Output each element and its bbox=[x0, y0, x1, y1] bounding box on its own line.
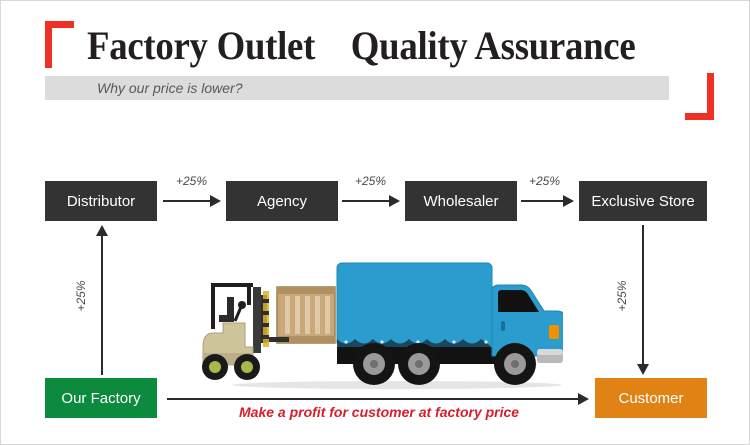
direct-path-caption: Make a profit for customer at factory pr… bbox=[239, 404, 519, 420]
flow-node-label: Distributor bbox=[67, 193, 135, 210]
flow-node-agency: Agency bbox=[226, 181, 338, 221]
forklift-loading-truck-illustration bbox=[197, 249, 563, 394]
flow-node-label: Agency bbox=[257, 193, 307, 210]
flow-node-label: Wholesaler bbox=[423, 193, 498, 210]
forklift-icon bbox=[202, 283, 289, 380]
markup-label-distributor-to-agency: +25% bbox=[176, 174, 207, 188]
markup-label-factory-to-distributor: +25% bbox=[74, 276, 88, 316]
markup-label-exclusive-to-customer: +25% bbox=[615, 276, 629, 316]
subtitle-text: Why our price is lower? bbox=[97, 76, 243, 100]
arrow-head-icon bbox=[389, 195, 400, 207]
flow-node-exclusive-store: Exclusive Store bbox=[579, 181, 707, 221]
arrow-distributor-to-agency bbox=[163, 195, 221, 207]
page-title: Factory Outlet Quality Assurance bbox=[87, 21, 639, 71]
slide-canvas: Factory Outlet Quality Assurance Why our… bbox=[0, 0, 750, 445]
arrow-exclusive-store-to-customer bbox=[637, 225, 649, 375]
flow-node-label: Our Factory bbox=[61, 390, 140, 407]
arrow-shaft bbox=[101, 235, 103, 375]
flow-node-distributor: Distributor bbox=[45, 181, 157, 221]
markup-label-agency-to-wholesaler: +25% bbox=[355, 174, 386, 188]
corner-bracket-top-left-icon bbox=[45, 21, 74, 68]
arrow-factory-to-distributor bbox=[96, 225, 108, 375]
box-truck-icon bbox=[337, 263, 563, 385]
flow-node-wholesaler: Wholesaler bbox=[405, 181, 517, 221]
corner-bracket-bottom-right-icon bbox=[685, 73, 714, 120]
arrow-shaft bbox=[342, 200, 390, 202]
arrow-head-icon bbox=[210, 195, 221, 207]
flow-node-our-factory: Our Factory bbox=[45, 378, 157, 418]
arrow-shaft bbox=[163, 200, 211, 202]
arrow-shaft bbox=[642, 225, 644, 365]
wooden-crate-icon bbox=[277, 287, 335, 343]
markup-label-wholesaler-to-exclusive: +25% bbox=[529, 174, 560, 188]
arrow-head-icon bbox=[578, 393, 589, 405]
flow-node-customer: Customer bbox=[595, 378, 707, 418]
arrow-head-icon bbox=[563, 195, 574, 207]
arrow-shaft bbox=[167, 398, 579, 400]
arrow-shaft bbox=[521, 200, 564, 202]
arrow-head-icon bbox=[637, 364, 649, 375]
flow-node-label: Exclusive Store bbox=[591, 193, 694, 210]
arrow-wholesaler-to-exclusive-store bbox=[521, 195, 574, 207]
flow-node-label: Customer bbox=[618, 390, 683, 407]
arrow-agency-to-wholesaler bbox=[342, 195, 400, 207]
arrow-head-icon bbox=[96, 225, 108, 236]
